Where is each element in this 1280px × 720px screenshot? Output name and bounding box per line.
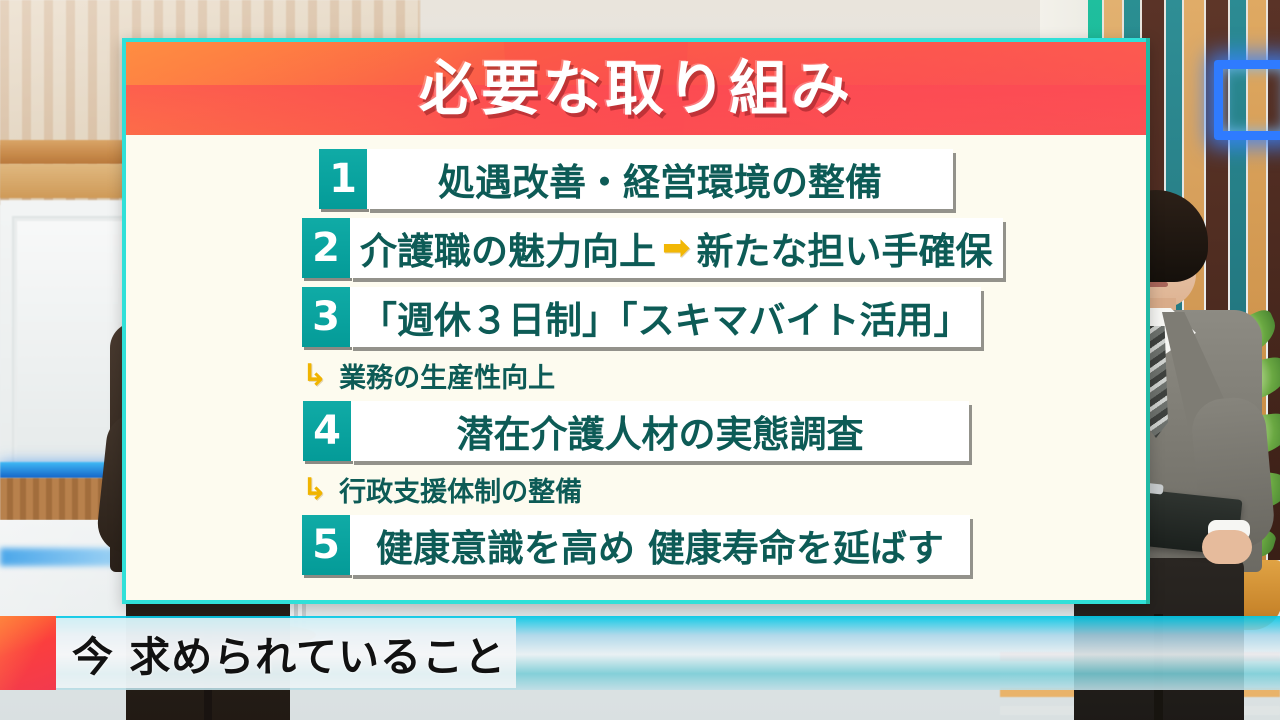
hand-right: [1202, 530, 1252, 564]
sub-item: ↳ 業務の生産性向上: [126, 356, 1146, 395]
item-number: 5: [302, 515, 350, 575]
item-text: 潜在介護人材の実態調査: [351, 401, 969, 461]
right-arrow-icon: ➡: [662, 228, 691, 268]
lower-third-banner: 今 求められていること: [0, 616, 1280, 690]
list-item: 5 健康意識を高め 健康寿命を延ばす: [302, 515, 970, 575]
panel-title: 必要な取り組み: [126, 42, 1146, 135]
measures-list: 1 処遇改善・経営環境の整備 2 介護職の魅力向上 ➡ 新たな担い手確保 3 「…: [126, 135, 1146, 575]
list-item: 1 処遇改善・経営環境の整備: [319, 149, 953, 209]
list-item: 2 介護職の魅力向上 ➡ 新たな担い手確保: [302, 218, 970, 278]
item-number: 1: [319, 149, 367, 209]
sub-item: ↳ 行政支援体制の整備: [126, 470, 1146, 509]
item-number: 2: [302, 218, 350, 278]
panel-title-bar: 必要な取り組み: [126, 42, 1146, 135]
sub-item-text: 行政支援体制の整備: [339, 470, 582, 509]
info-graphic-panel: 必要な取り組み 1 処遇改善・経営環境の整備 2 介護職の魅力向上 ➡ 新たな担…: [122, 38, 1150, 604]
item-text: 処遇改善・経営環境の整備: [367, 149, 953, 209]
item-text: 健康意識を高め 健康寿命を延ばす: [350, 515, 970, 575]
item-text-after: 新たな担い手確保: [697, 221, 993, 275]
broadcast-screen: 必要な取り組み 1 処遇改善・経営環境の整備 2 介護職の魅力向上 ➡ 新たな担…: [0, 0, 1280, 720]
sub-item-text: 業務の生産性向上: [339, 356, 555, 395]
lower-third-red-block: [0, 616, 56, 690]
hook-arrow-icon: ↳: [302, 475, 327, 505]
item-text: 「週休３日制」「スキマバイト活用」: [350, 287, 981, 347]
item-number: 3: [302, 287, 350, 347]
list-item: 4 潜在介護人材の実態調査: [303, 401, 969, 461]
list-item: 3 「週休３日制」「スキマバイト活用」: [302, 287, 970, 347]
neon-square-light: [1214, 60, 1280, 140]
item-number: 4: [303, 401, 351, 461]
item-text: 介護職の魅力向上 ➡ 新たな担い手確保: [350, 218, 1003, 278]
panel-right-edge: [1146, 38, 1150, 604]
hook-arrow-icon: ↳: [302, 361, 327, 391]
item-text-before: 介護職の魅力向上: [360, 221, 656, 275]
lower-third-headline: 今 求められていること: [56, 618, 516, 688]
